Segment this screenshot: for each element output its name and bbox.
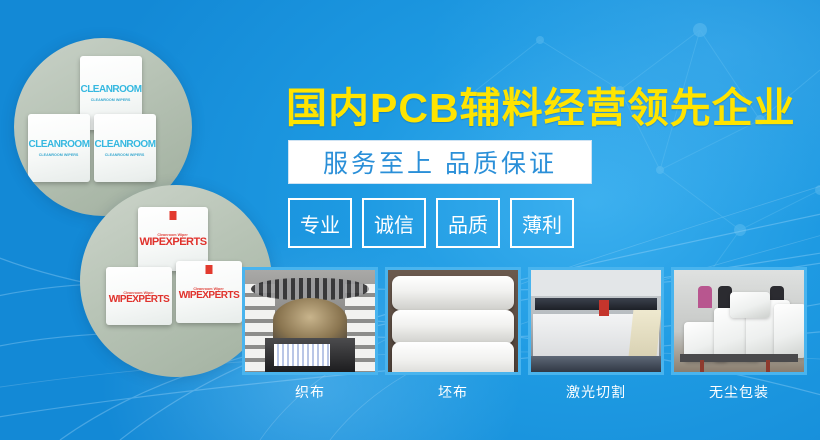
product-pack: Cleanroom Wiper WIPEXPERTS: [176, 261, 242, 323]
thumbnail-frame: [528, 267, 664, 375]
pack-brand-label: CLEANROOM: [80, 85, 141, 95]
pack-sub-label: Cleanroom Wiper: [158, 232, 188, 237]
product-pack: CLEANROOM CLEANROOM WIPERS: [28, 114, 90, 182]
product-pack: CLEANROOM CLEANROOM WIPERS: [94, 114, 156, 182]
pack-sub-label: CLEANROOM WIPERS: [91, 97, 131, 102]
tag-label: 诚信: [374, 209, 414, 238]
product-pack: Cleanroom Wiper WIPEXPERTS: [106, 267, 172, 325]
tag-label: 专业: [300, 209, 340, 238]
thumbnail-frame: [671, 267, 807, 375]
tag-label: 品质: [448, 209, 488, 238]
thumbnail-item-weaving: 织布: [242, 267, 378, 402]
pack-brand-label: WIPEXPERTS: [139, 237, 206, 248]
thumbnail-item-cleanroom-packing: 无尘包装: [671, 267, 807, 402]
pack-sub-label: CLEANROOM WIPERS: [105, 152, 145, 157]
pack-sub-label: Cleanroom Wiper: [194, 286, 224, 291]
tag-label: 薄利: [522, 209, 562, 238]
thumbnail-caption: 无尘包装: [671, 382, 807, 402]
headline: 国内PCB辅料经营领先企业: [286, 74, 796, 134]
laser-cutter-photo: [531, 270, 661, 372]
feature-tag-list: 专业 诚信 品质 薄利: [288, 198, 574, 248]
thumbnail-item-greige-fabric: 坯布: [385, 267, 521, 402]
thumbnail-frame: [385, 267, 521, 375]
red-tape-mark: [170, 211, 177, 220]
subtitle-text: 服务至上 品质保证: [323, 144, 557, 180]
promotional-banner: CLEANROOM CLEANROOM WIPERS CLEANROOM CLE…: [0, 0, 820, 440]
feature-tag-integrity: 诚信: [362, 198, 426, 248]
pack-brand-label: WIPEXPERTS: [179, 291, 240, 301]
fabric-rolls-photo: [388, 270, 518, 372]
thumbnail-item-laser-cutting: 激光切割: [528, 267, 664, 402]
feature-tag-low-margin: 薄利: [510, 198, 574, 248]
process-thumbnail-strip: 织布 坯布: [242, 267, 807, 402]
pack-brand-label: WIPEXPERTS: [109, 295, 170, 305]
feature-tag-professional: 专业: [288, 198, 352, 248]
thumbnail-caption: 激光切割: [528, 382, 664, 402]
thumbnail-caption: 坯布: [385, 382, 521, 402]
pack-brand-label: CLEANROOM: [28, 140, 89, 150]
subtitle-bar: 服务至上 品质保证: [288, 140, 592, 184]
pack-sub-label: CLEANROOM WIPERS: [39, 152, 79, 157]
feature-tag-quality: 品质: [436, 198, 500, 248]
thumbnail-caption: 织布: [242, 382, 378, 402]
pack-sub-label: Cleanroom Wiper: [124, 290, 154, 295]
thumbnail-frame: [242, 267, 378, 375]
cleanroom-packing-photo: [674, 270, 804, 372]
red-tape-mark: [206, 265, 213, 274]
pack-brand-label: CLEANROOM: [94, 140, 155, 150]
knitting-machine-photo: [245, 270, 375, 372]
